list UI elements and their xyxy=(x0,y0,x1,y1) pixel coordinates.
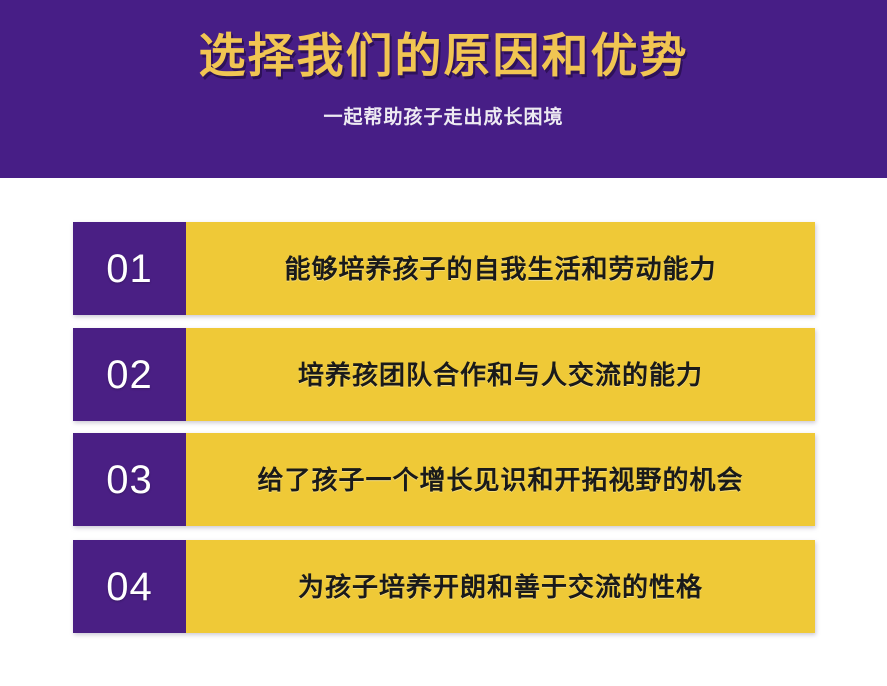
page-title: 选择我们的原因和优势 xyxy=(0,26,887,86)
page-subtitle: 一起帮助孩子走出成长困境 xyxy=(0,104,887,132)
item-number-badge: 04 xyxy=(73,540,186,633)
list-item: 04 为孩子培养开朗和善于交流的性格 xyxy=(73,540,815,633)
item-label: 给了孩子一个增长见识和开拓视野的机会 xyxy=(186,433,815,526)
item-number-badge: 01 xyxy=(73,222,186,315)
item-number-badge: 02 xyxy=(73,328,186,421)
benefit-list: 01 能够培养孩子的自我生活和劳动能力 02 培养孩团队合作和与人交流的能力 0… xyxy=(0,178,887,686)
item-number-badge: 03 xyxy=(73,433,186,526)
promotional-poster: 选择我们的原因和优势 一起帮助孩子走出成长困境 01 能够培养孩子的自我生活和劳… xyxy=(0,0,887,686)
header-banner: 选择我们的原因和优势 一起帮助孩子走出成长困境 xyxy=(0,0,887,178)
item-label: 为孩子培养开朗和善于交流的性格 xyxy=(186,540,815,633)
list-item: 01 能够培养孩子的自我生活和劳动能力 xyxy=(73,222,815,315)
list-item: 03 给了孩子一个增长见识和开拓视野的机会 xyxy=(73,433,815,526)
list-item: 02 培养孩团队合作和与人交流的能力 xyxy=(73,328,815,421)
item-label: 能够培养孩子的自我生活和劳动能力 xyxy=(186,222,815,315)
item-label: 培养孩团队合作和与人交流的能力 xyxy=(186,328,815,421)
